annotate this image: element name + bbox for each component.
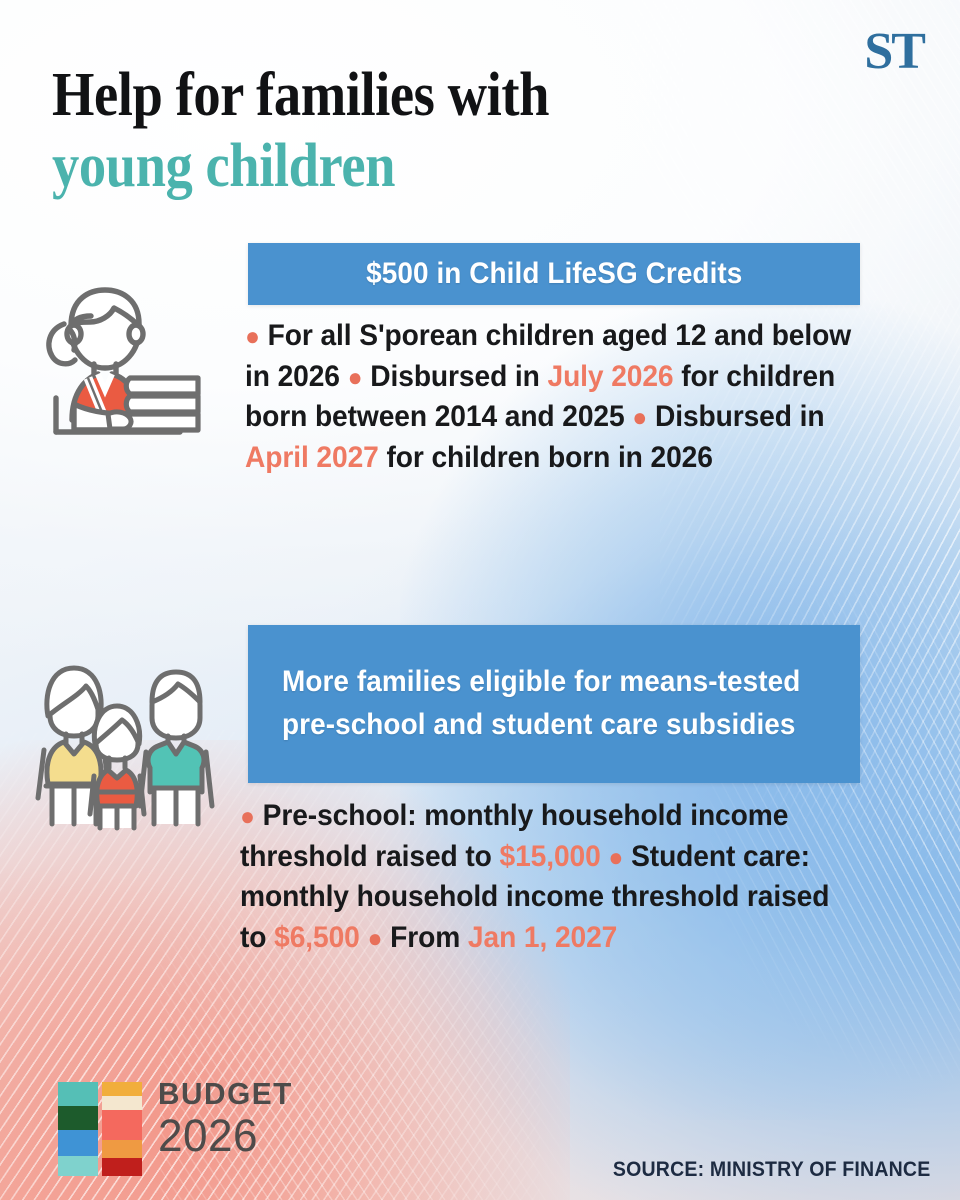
bullet-marker: ●	[367, 923, 382, 953]
source-credit: SOURCE: MINISTRY OF FINANCE	[612, 1158, 930, 1182]
budget-logo-left-column	[58, 1082, 98, 1176]
budget-2026-logo: BUDGET 2026	[58, 1078, 358, 1178]
section-1-header-text: $500 in Child LifeSG Credits	[366, 256, 742, 293]
bullet-marker: ●	[608, 842, 623, 872]
bullet-text: Disbursed in	[370, 360, 547, 393]
budget-logo-word: BUDGET	[158, 1078, 293, 1111]
budget-logo-text: BUDGET 2026	[158, 1078, 299, 1159]
infographic-page: Help for families with young children ST	[0, 0, 960, 1200]
bullet-highlight: April 2027	[245, 441, 379, 474]
bullet-text: From	[390, 921, 468, 954]
page-title-line1: Help for families with	[52, 61, 549, 129]
section-1-header-bar: $500 in Child LifeSG Credits	[248, 243, 860, 305]
bullet-marker: ●	[348, 362, 363, 392]
bullet-highlight: $6,500	[274, 921, 360, 954]
budget-logo-block	[58, 1106, 98, 1130]
bullet-text: Disbursed in	[655, 400, 824, 433]
budget-logo-block	[102, 1140, 142, 1158]
bullet-marker: ●	[245, 321, 260, 351]
budget-logo-block	[58, 1130, 98, 1156]
section-2-header-bar: More families eligible for means-tested …	[248, 625, 860, 783]
page-title: Help for families with young children	[52, 64, 721, 198]
budget-logo-block	[58, 1082, 98, 1106]
budget-logo-block	[58, 1156, 98, 1176]
budget-logo-block	[102, 1096, 142, 1110]
budget-logo-block	[102, 1082, 142, 1096]
budget-logo-color-blocks	[58, 1082, 144, 1178]
page-title-line2: young children	[52, 135, 721, 198]
bullet-highlight: Jan 1, 2027	[468, 921, 617, 954]
section-2-bullet-list: ● Pre-school: monthly household income t…	[240, 796, 861, 959]
straits-times-logo: ST	[864, 26, 924, 78]
section-1-bullet-list: ● For all S'porean children aged 12 and …	[245, 316, 856, 479]
budget-logo-year: 2026	[158, 1112, 296, 1159]
bullet-marker: ●	[240, 801, 255, 831]
bullet-highlight: $15,000	[500, 840, 601, 873]
bullet-highlight: July 2026	[547, 360, 673, 393]
bullet-marker: ●	[632, 402, 647, 432]
budget-logo-right-column	[102, 1082, 142, 1176]
girl-with-books-icon	[30, 272, 210, 452]
bullet-text: for children born in 2026	[379, 441, 713, 474]
budget-logo-block	[102, 1110, 142, 1140]
family-icon	[22, 628, 222, 838]
section-2-header-text: More families eligible for means-tested …	[282, 661, 820, 746]
budget-logo-block	[102, 1158, 142, 1176]
